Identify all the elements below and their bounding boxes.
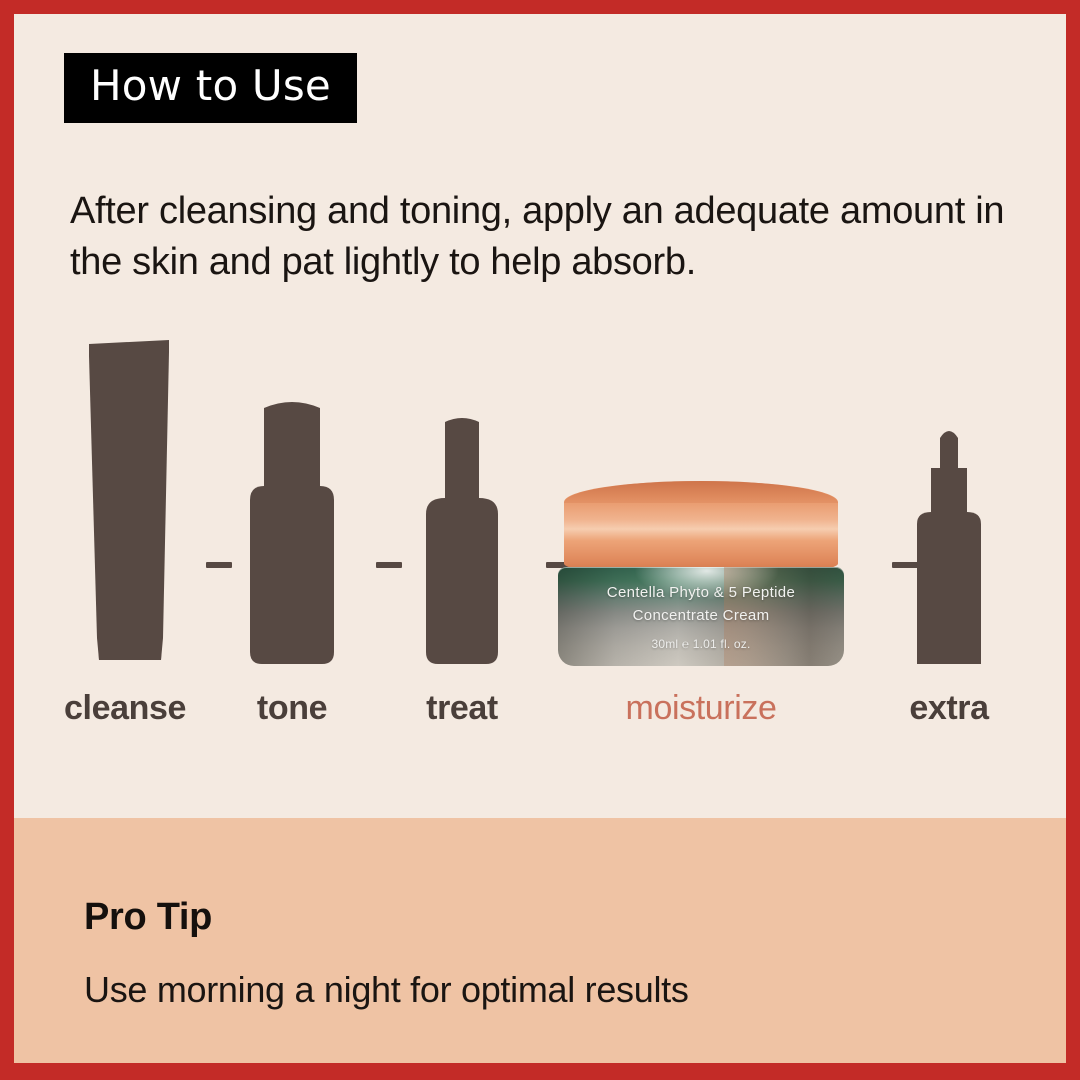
product-name: Centella Phyto & 5 Peptide Concentrate C… — [558, 581, 844, 628]
jar-glass-body: Centella Phyto & 5 Peptide Concentrate C… — [558, 567, 844, 666]
pro-tip-body: Use morning a night for optimal results — [84, 969, 689, 1011]
dropper-bottle-icon — [909, 420, 989, 666]
content-panel: How to Use After cleansing and toning, a… — [14, 14, 1066, 1063]
intro-paragraph: After cleansing and toning, apply an ade… — [70, 186, 1030, 289]
jar-lid — [564, 481, 838, 577]
step-label-cleanse: cleanse — [64, 689, 186, 728]
serum-bottle-icon — [416, 414, 508, 666]
step-label-tone: tone — [257, 689, 327, 728]
product-name-line1: Centella Phyto & 5 Peptide — [558, 581, 844, 604]
step-separator — [376, 562, 402, 568]
step-label-extra: extra — [909, 689, 988, 728]
product-name-line2: Concentrate Cream — [558, 604, 844, 627]
product-volume: 30ml ℮ 1.01 fl. oz. — [558, 637, 844, 651]
step-separator — [206, 562, 232, 568]
badge-label: How to Use — [90, 61, 331, 110]
routine-steps: cleanse tone — [14, 314, 1066, 734]
how-to-use-badge: How to Use — [64, 53, 357, 123]
cream-jar-icon: Centella Phyto & 5 Peptide Concentrate C… — [558, 481, 844, 666]
toner-bottle-icon — [242, 394, 342, 666]
step-label-moisturize: moisturize — [626, 689, 777, 728]
pro-tip-section: Pro Tip Use morning a night for optimal … — [14, 818, 1066, 1063]
tube-icon — [73, 338, 177, 666]
pro-tip-title: Pro Tip — [84, 896, 212, 939]
infographic-canvas: How to Use After cleansing and toning, a… — [0, 0, 1080, 1080]
step-label-treat: treat — [426, 689, 498, 728]
